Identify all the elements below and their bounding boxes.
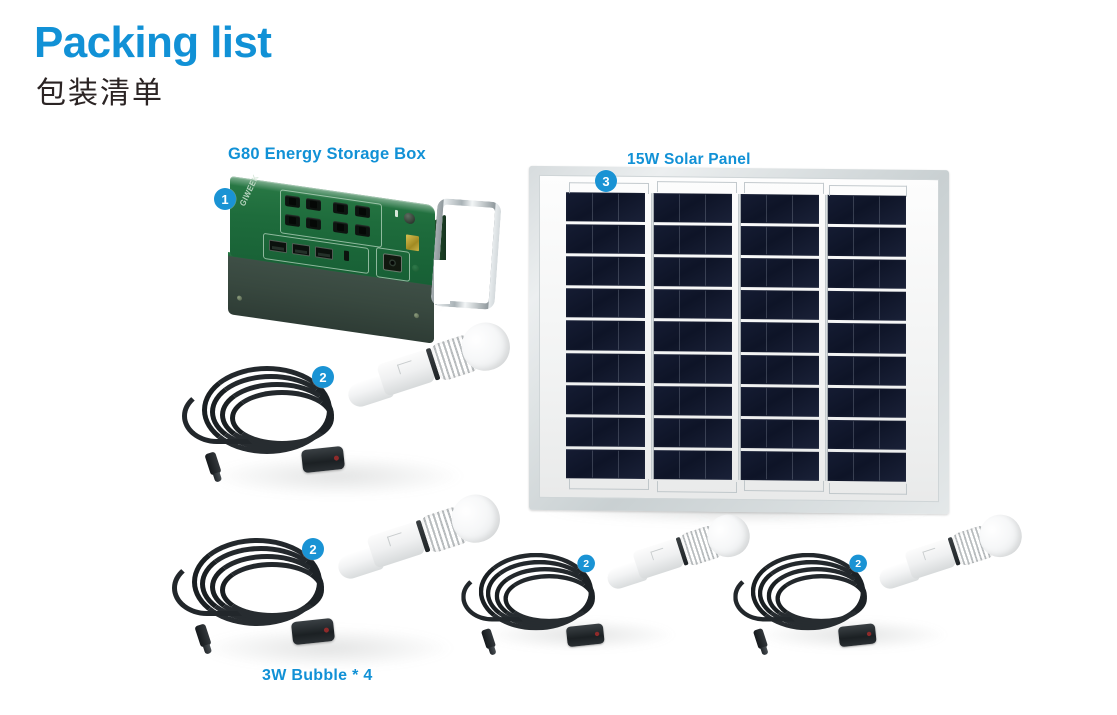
inline-switch[interactable]: [301, 446, 345, 473]
dc-output-jack[interactable]: [355, 224, 370, 237]
bulb-body: [376, 349, 436, 396]
pv-cell: [653, 289, 732, 319]
pv-cell: [827, 323, 906, 353]
badge-1: 1: [214, 188, 236, 210]
pv-cell: [740, 258, 819, 288]
small-output-jack[interactable]: [344, 250, 349, 261]
pv-cell: [740, 387, 819, 417]
inline-switch[interactable]: [838, 623, 877, 647]
led-bulb-assembly-4: 2: [742, 530, 962, 653]
interconnect-tab: [569, 478, 649, 490]
pv-cell: [740, 419, 819, 449]
pv-cell: [827, 291, 906, 321]
interconnect-tab: [657, 481, 737, 493]
photovoltaic-cell-grid: [566, 192, 906, 482]
dc-output-jack[interactable]: [333, 221, 348, 234]
pv-cell: [827, 388, 906, 418]
spec-label: [406, 234, 419, 251]
pv-cell: [740, 451, 819, 481]
badge-2: 2: [577, 555, 595, 573]
badge-2: 2: [849, 555, 867, 573]
interconnect-tab: [657, 181, 737, 193]
pv-cell: [566, 192, 645, 222]
pv-cell: [740, 194, 819, 224]
led-bulb-assembly-2: 2: [182, 512, 472, 672]
led-indicator-icon: [395, 210, 398, 217]
pv-cell: [740, 226, 819, 256]
pv-cell: [653, 225, 732, 255]
pv-cell: [827, 355, 906, 385]
pv-cell: [653, 322, 732, 352]
handle-mask: [434, 260, 450, 304]
inline-switch[interactable]: [566, 623, 605, 647]
pv-cell: [827, 259, 906, 289]
dc-output-jack[interactable]: [333, 202, 348, 215]
pv-cell: [740, 290, 819, 320]
led-bulb-assembly-1: 2: [192, 340, 482, 500]
cable-tail: [182, 388, 252, 444]
caption-solar-panel: 15W Solar Panel: [627, 152, 751, 168]
screw-icon: [414, 313, 419, 319]
pv-cell: [566, 321, 645, 351]
busbar: [738, 194, 741, 480]
pv-cell: [566, 417, 645, 447]
dc-output-jack[interactable]: [306, 217, 321, 230]
dc-output-jack[interactable]: [285, 214, 300, 227]
panel-aluminum-frame: [529, 166, 949, 514]
pv-cell: [827, 227, 906, 257]
pv-cell: [653, 354, 732, 384]
pv-cell: [566, 449, 645, 479]
inline-switch[interactable]: [291, 618, 335, 645]
badge-3: 3: [595, 170, 617, 192]
pv-cell: [566, 256, 645, 286]
led-bulb-assembly-3: 2: [470, 530, 690, 653]
badge-2: 2: [302, 538, 324, 560]
interconnect-tab: [829, 185, 907, 197]
cable-tail: [461, 572, 523, 621]
pv-cell: [653, 257, 732, 287]
interconnect-tab: [829, 483, 907, 495]
packing-list-page: Packing list 包装清单 G80 Energy Storage Box…: [0, 0, 1117, 715]
pv-cell: [566, 353, 645, 383]
pv-cell: [740, 355, 819, 385]
cable-tail: [172, 560, 242, 616]
mount-dimple: [412, 264, 419, 272]
busbar: [825, 195, 828, 481]
interconnect-tab: [744, 480, 824, 492]
pv-cell: [827, 195, 906, 225]
pv-cell: [827, 452, 906, 482]
cable-tail: [733, 572, 795, 621]
pv-cell: [653, 450, 732, 480]
dc-output-jack[interactable]: [285, 195, 300, 208]
pv-cell: [566, 224, 645, 254]
page-title-en: Packing list: [34, 21, 271, 65]
interconnect-tab: [744, 182, 824, 194]
page-title-cn: 包装清单: [36, 79, 164, 109]
busbar: [651, 193, 654, 479]
pv-cell: [827, 420, 906, 450]
pv-cell: [566, 385, 645, 415]
pv-cell: [653, 386, 732, 416]
screw-icon: [237, 295, 242, 301]
pv-cell: [566, 289, 645, 319]
energy-storage-box: GIWEEK 1: [206, 172, 496, 337]
bulb-body: [366, 521, 426, 568]
dc-output-jack[interactable]: [355, 205, 370, 218]
caption-energy-storage-box: G80 Energy Storage Box: [228, 146, 426, 163]
pv-cell: [740, 322, 819, 352]
badge-2: 2: [312, 366, 334, 388]
dc-input-jack[interactable]: [383, 253, 402, 273]
solar-panel: 3: [529, 168, 953, 526]
pv-cell: [653, 418, 732, 448]
pv-cell: [653, 193, 732, 223]
power-button[interactable]: [404, 212, 415, 225]
dc-output-jack[interactable]: [306, 198, 321, 211]
